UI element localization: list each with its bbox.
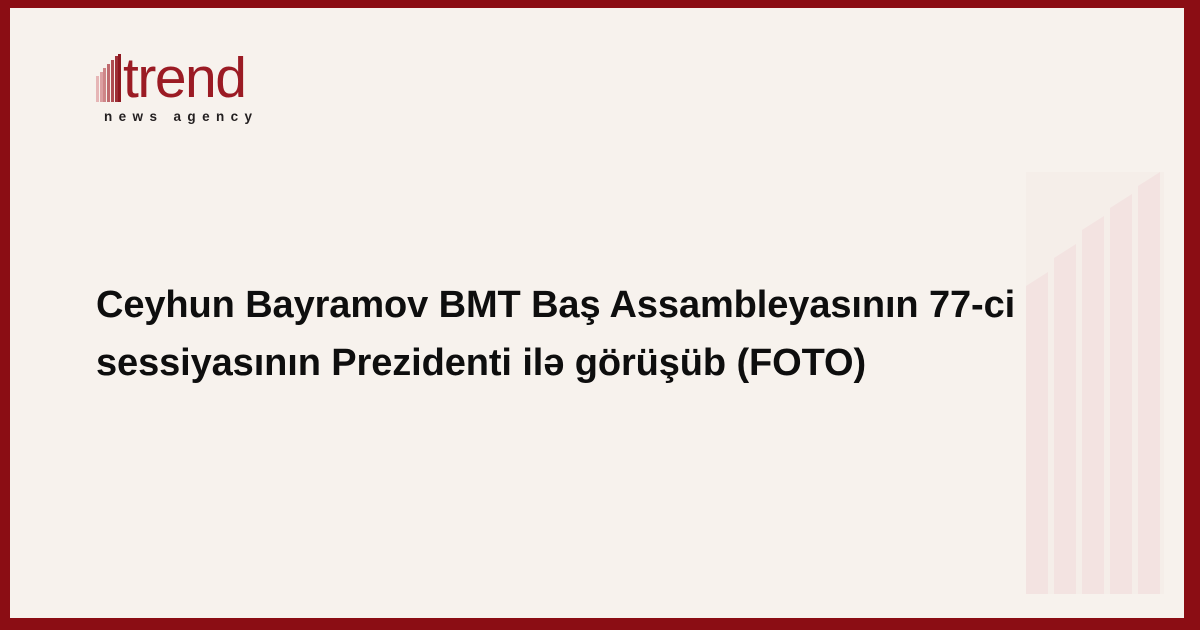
logo-bar-2 — [100, 72, 103, 102]
logo-tagline: news agency — [104, 109, 356, 124]
logo-bar-5 — [111, 60, 114, 102]
decoration-backdrop — [1026, 172, 1164, 594]
logo-bar-4 — [107, 64, 110, 102]
decoration-bar-4 — [1110, 194, 1132, 594]
card-panel: trend news agency Ceyhun Bayramov BMT Ba… — [10, 8, 1184, 618]
ascending-bars-icon — [96, 54, 122, 102]
ascending-bar-chart-decoration — [1026, 172, 1164, 594]
logo-mark-row: trend — [96, 44, 356, 102]
logo-bar-6 — [115, 56, 118, 102]
logo-bar-7 — [118, 54, 121, 102]
decoration-bar-1 — [1026, 272, 1048, 594]
logo-wordmark: trend — [123, 54, 245, 102]
decoration-bar-2 — [1054, 244, 1076, 594]
decoration-bar-5 — [1138, 172, 1160, 594]
brand-logo[interactable]: trend news agency — [96, 44, 356, 124]
social-card: trend news agency Ceyhun Bayramov BMT Ba… — [0, 0, 1200, 630]
decoration-bar-3 — [1082, 216, 1104, 594]
page-title: Ceyhun Bayramov BMT Baş Assambleyasının … — [96, 276, 1026, 392]
logo-bar-3 — [103, 68, 106, 102]
logo-bar-1 — [96, 76, 99, 102]
